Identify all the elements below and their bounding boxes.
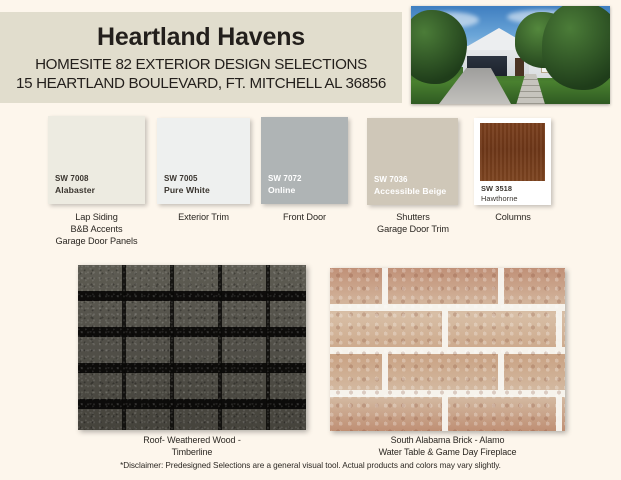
swatch-pure-white[interactable]: SW 7005 Pure White: [157, 118, 250, 204]
header-subtitle-address: 15 HEARTLAND BOULEVARD, FT. MITCHELL AL …: [16, 74, 386, 93]
caption-line: Garage Door Panels: [28, 235, 165, 247]
swatch-name: Pure White: [164, 185, 250, 196]
caption-line: Water Table & Game Day Fireplace: [330, 446, 565, 458]
swatch-caption-pure-white: Exterior Trim: [155, 211, 252, 223]
caption-line: Shutters: [357, 211, 469, 223]
mortar-joint: [442, 397, 448, 431]
page-title: Heartland Havens: [97, 24, 305, 51]
disclaimer-text: *Disclaimer: Predesigned Selections are …: [0, 461, 621, 470]
caption-line: Timberline: [78, 446, 306, 458]
header-subtitle-homesite: HOMESITE 82 EXTERIOR DESIGN SELECTIONS: [35, 55, 367, 74]
swatch-name: Online: [268, 185, 348, 196]
caption-line: Lap Siding: [28, 211, 165, 223]
swatch-caption-accessible-beige: Shutters Garage Door Trim: [357, 211, 469, 235]
material-photo-brick: [330, 268, 565, 431]
swatch-online[interactable]: SW 7072 Online: [261, 117, 348, 204]
material-caption-roof: Roof- Weathered Wood - Timberline: [78, 434, 306, 459]
swatch-name: Alabaster: [55, 185, 145, 196]
swatch-caption-alabaster: Lap Siding B&B Accents Garage Door Panel…: [28, 211, 165, 247]
swatch-caption-columns: Columns: [466, 211, 560, 223]
caption-line: Exterior Trim: [155, 211, 252, 223]
hero-house-photo: [411, 6, 610, 104]
mortar-joint: [498, 354, 504, 390]
mortar-joint: [382, 354, 388, 390]
swatch-code: SW 7036: [374, 175, 458, 186]
swatch-name: Hawthorne: [481, 194, 518, 203]
material-caption-brick: South Alabama Brick - Alamo Water Table …: [330, 434, 565, 459]
swatch-accessible-beige[interactable]: SW 7036 Accessible Beige: [367, 118, 458, 205]
swatch-caption-online: Front Door: [257, 211, 352, 223]
swatch-code: SW 7005: [164, 174, 250, 185]
swatch-alabaster[interactable]: SW 7008 Alabaster: [48, 116, 145, 204]
swatch-code: SW 7008: [55, 174, 145, 185]
design-selections-board: Heartland Havens HOMESITE 82 EXTERIOR DE…: [0, 0, 621, 480]
material-photo-roof-shingle: [78, 265, 306, 430]
swatch-code: SW 3518: [481, 184, 512, 193]
stain-color-chip: [480, 123, 545, 181]
swatch-name: Accessible Beige: [374, 186, 458, 197]
mortar-joint: [556, 311, 562, 347]
header-band: Heartland Havens HOMESITE 82 EXTERIOR DE…: [0, 12, 402, 103]
mortar-joint: [498, 268, 504, 304]
caption-line: South Alabama Brick - Alamo: [330, 434, 565, 446]
mortar-joint: [382, 268, 388, 304]
tree: [542, 6, 610, 90]
caption-line: Garage Door Trim: [357, 223, 469, 235]
swatch-code: SW 7072: [268, 174, 348, 185]
caption-line: Columns: [466, 211, 560, 223]
mortar-joint: [556, 397, 562, 431]
mortar-joint: [442, 311, 448, 347]
caption-line: B&B Accents: [28, 223, 165, 235]
swatch-hawthorne-stain[interactable]: SW 3518 Hawthorne: [474, 118, 551, 205]
caption-line: Roof- Weathered Wood -: [78, 434, 306, 446]
caption-line: Front Door: [257, 211, 352, 223]
